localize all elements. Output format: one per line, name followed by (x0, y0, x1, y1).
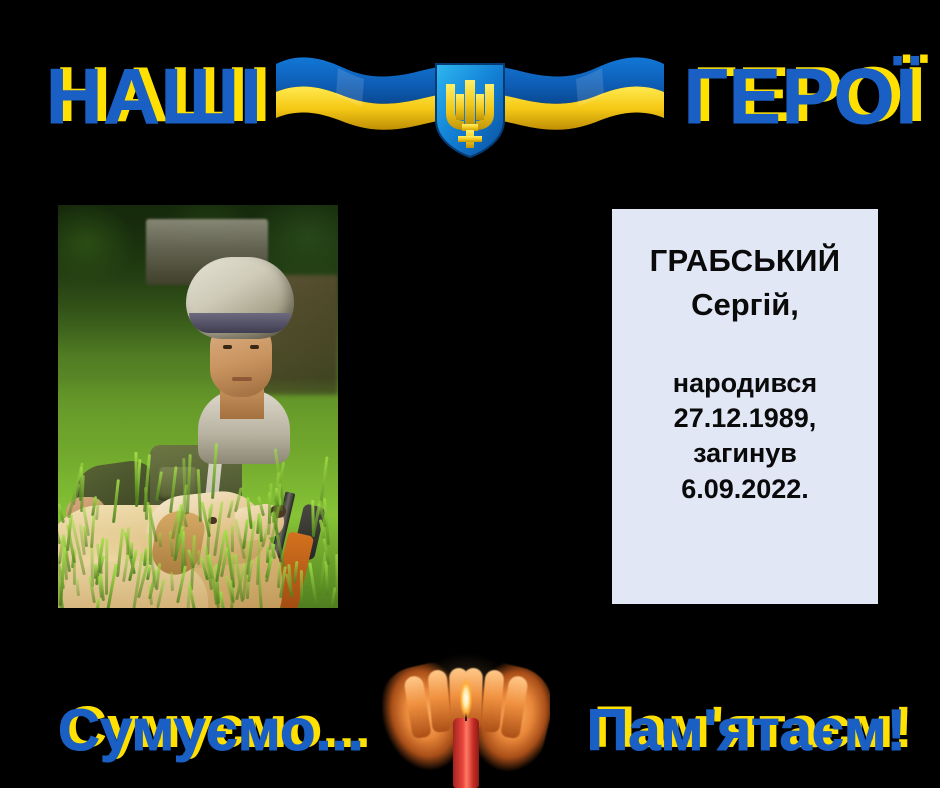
header-word-right: ГЕРОЇ (684, 57, 918, 135)
born-label: народився (626, 366, 864, 401)
info-panel: ГРАБСЬКИЙ Сергій, народився 27.12.1989, … (612, 209, 878, 604)
born-date: 27.12.1989, (626, 401, 864, 436)
footer-word-left: Сумуємо... (58, 702, 364, 760)
soldier-eye-right (250, 345, 259, 349)
header-word-left: НАШІ (46, 57, 263, 135)
flag-ribbon-right-icon (496, 48, 666, 134)
ukrainian-coat-of-arms-icon (268, 22, 672, 167)
life-dates: народився 27.12.1989, загинув 6.09.2022. (626, 366, 864, 506)
grass-blade (335, 554, 338, 604)
died-date: 6.09.2022. (626, 472, 864, 507)
footer-word-right: Пам'ятаєм! (587, 702, 906, 760)
grass-blade (158, 533, 161, 547)
grass-blade (134, 452, 138, 499)
tryzub-shield-icon (432, 60, 508, 160)
memorial-poster: НАШІ (0, 0, 940, 788)
flag-ribbon-left-icon (274, 48, 444, 134)
hands-holding-candle-icon (382, 646, 550, 788)
soldier-mouth (232, 377, 252, 381)
surname: ГРАБСЬКИЙ (626, 243, 864, 279)
soldier-eye-left (223, 345, 232, 349)
firstname: Сергій, (626, 287, 864, 323)
grass-blade (300, 570, 303, 605)
candle-wax (453, 718, 479, 788)
soldier-photo (58, 205, 338, 608)
grass-blade (105, 539, 108, 595)
soldier-helmet-band (189, 313, 291, 333)
died-label: загинув (626, 436, 864, 471)
grass-blade (197, 549, 200, 564)
